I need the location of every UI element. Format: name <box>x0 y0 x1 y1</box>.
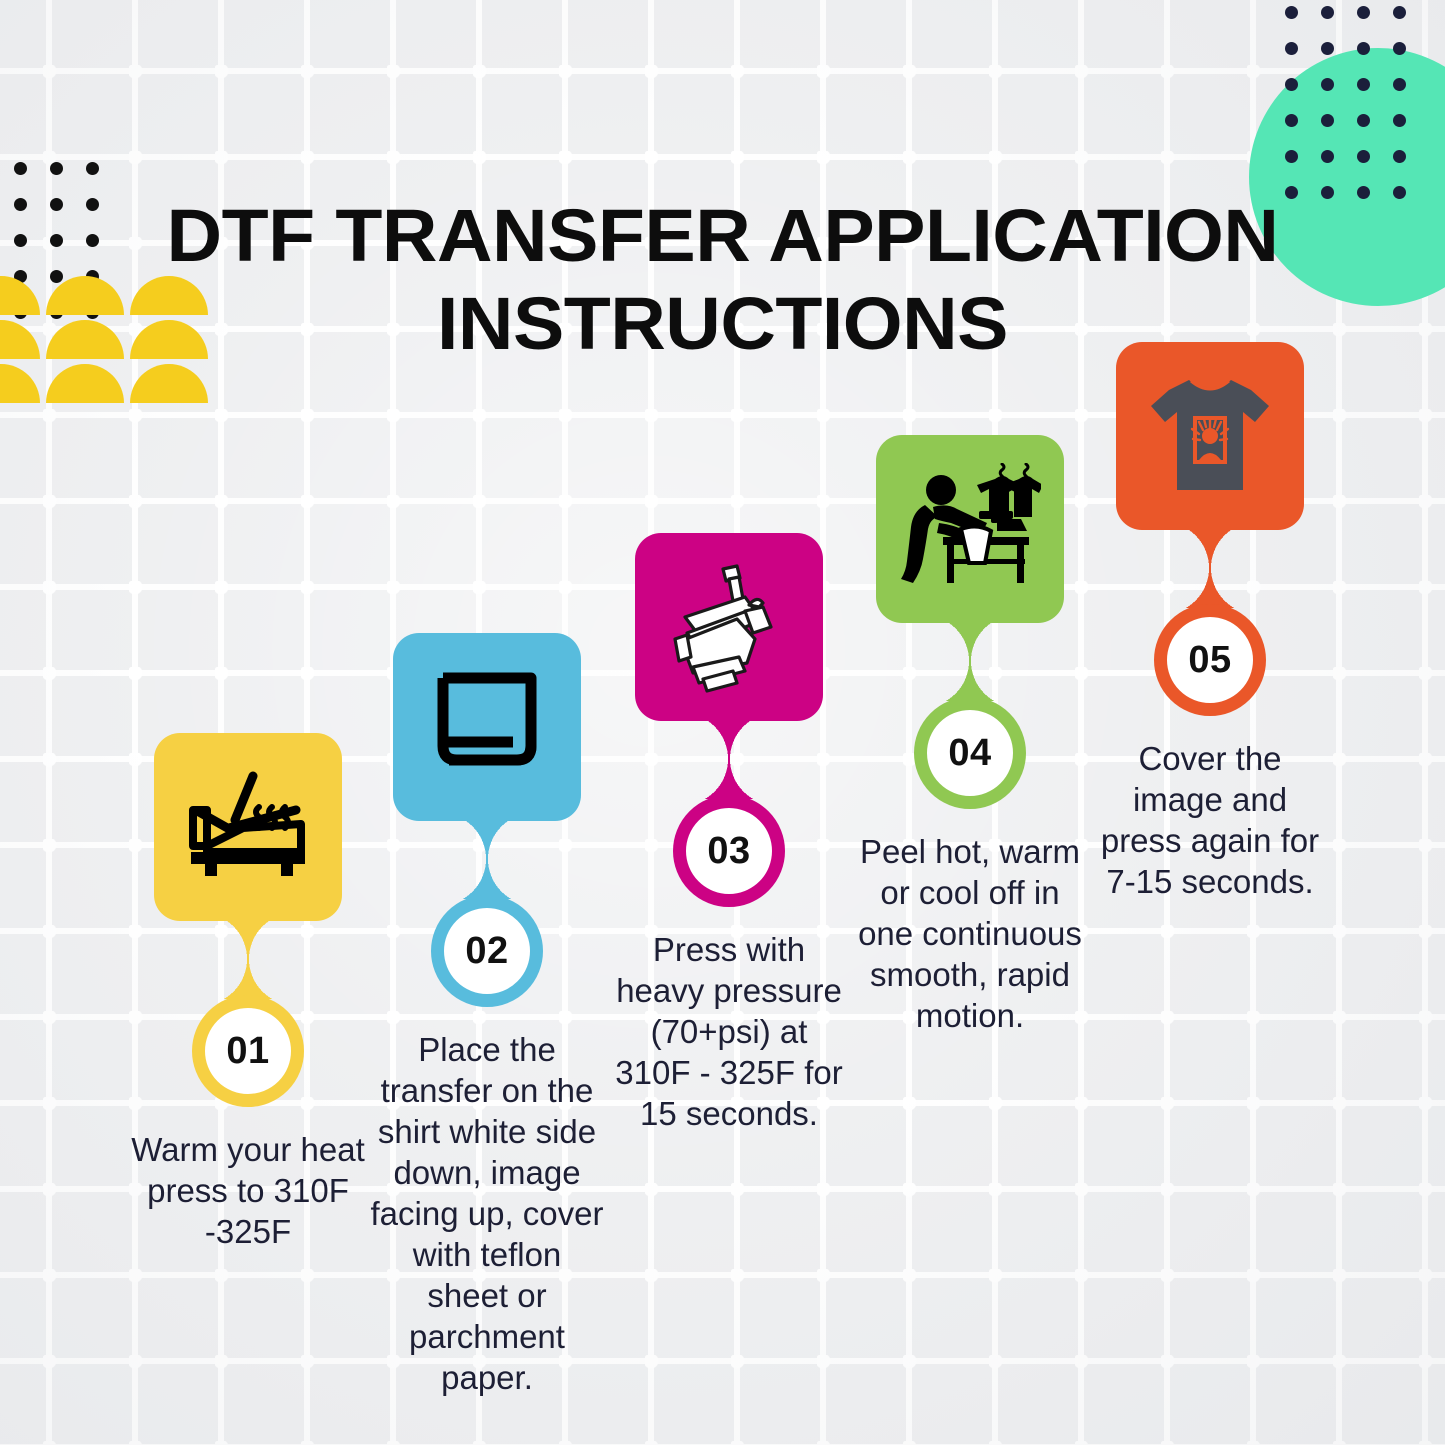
step-01-caption: Warm your heat press to 310F -325F <box>123 1129 373 1252</box>
step-01-connector <box>201 921 295 999</box>
step-03: 03 Press with heavy pressure (70+psi) at… <box>604 533 854 1134</box>
peel-transfer-person-icon <box>899 463 1041 595</box>
step-05-caption: Cover the image and press again for 7-15… <box>1085 738 1335 902</box>
transfer-sheet-icon <box>427 668 547 786</box>
step-02-number: 02 <box>465 932 508 970</box>
step-05-number: 05 <box>1188 641 1231 679</box>
step-03-card[interactable] <box>635 533 823 721</box>
step-03-caption: Press with heavy pressure (70+psi) at 31… <box>604 929 854 1134</box>
step-01-number-badge[interactable]: 01 <box>192 995 304 1107</box>
step-01-card[interactable] <box>154 733 342 921</box>
step-02-caption: Place the transfer on the shirt white si… <box>362 1029 612 1398</box>
step-02-number-badge[interactable]: 02 <box>431 895 543 1007</box>
step-04: 04 Peel hot, warm or cool off in one con… <box>845 435 1095 1036</box>
heat-press-open-icon <box>183 768 313 886</box>
step-02: 02 Place the transfer on the shirt white… <box>362 633 612 1398</box>
step-04-number: 04 <box>948 734 991 772</box>
step-05: 05 Cover the image and press again for 7… <box>1085 342 1335 902</box>
step-03-number-badge[interactable]: 03 <box>673 795 785 907</box>
steps-container: 01 Warm your heat press to 310F -325F 02… <box>0 0 1445 1445</box>
step-04-connector <box>923 623 1017 701</box>
step-03-number: 03 <box>707 832 750 870</box>
step-04-caption: Peel hot, warm or cool off in one contin… <box>845 831 1095 1036</box>
step-01-number: 01 <box>226 1032 269 1070</box>
heat-press-machine-icon <box>663 561 795 693</box>
step-05-number-badge[interactable]: 05 <box>1154 604 1266 716</box>
printed-tshirt-icon <box>1145 372 1275 500</box>
step-01: 01 Warm your heat press to 310F -325F <box>123 733 373 1252</box>
step-05-connector <box>1163 530 1257 608</box>
step-03-connector <box>682 721 776 799</box>
step-02-connector <box>440 821 534 899</box>
step-02-card[interactable] <box>393 633 581 821</box>
step-04-number-badge[interactable]: 04 <box>914 697 1026 809</box>
step-05-card[interactable] <box>1116 342 1304 530</box>
step-04-card[interactable] <box>876 435 1064 623</box>
